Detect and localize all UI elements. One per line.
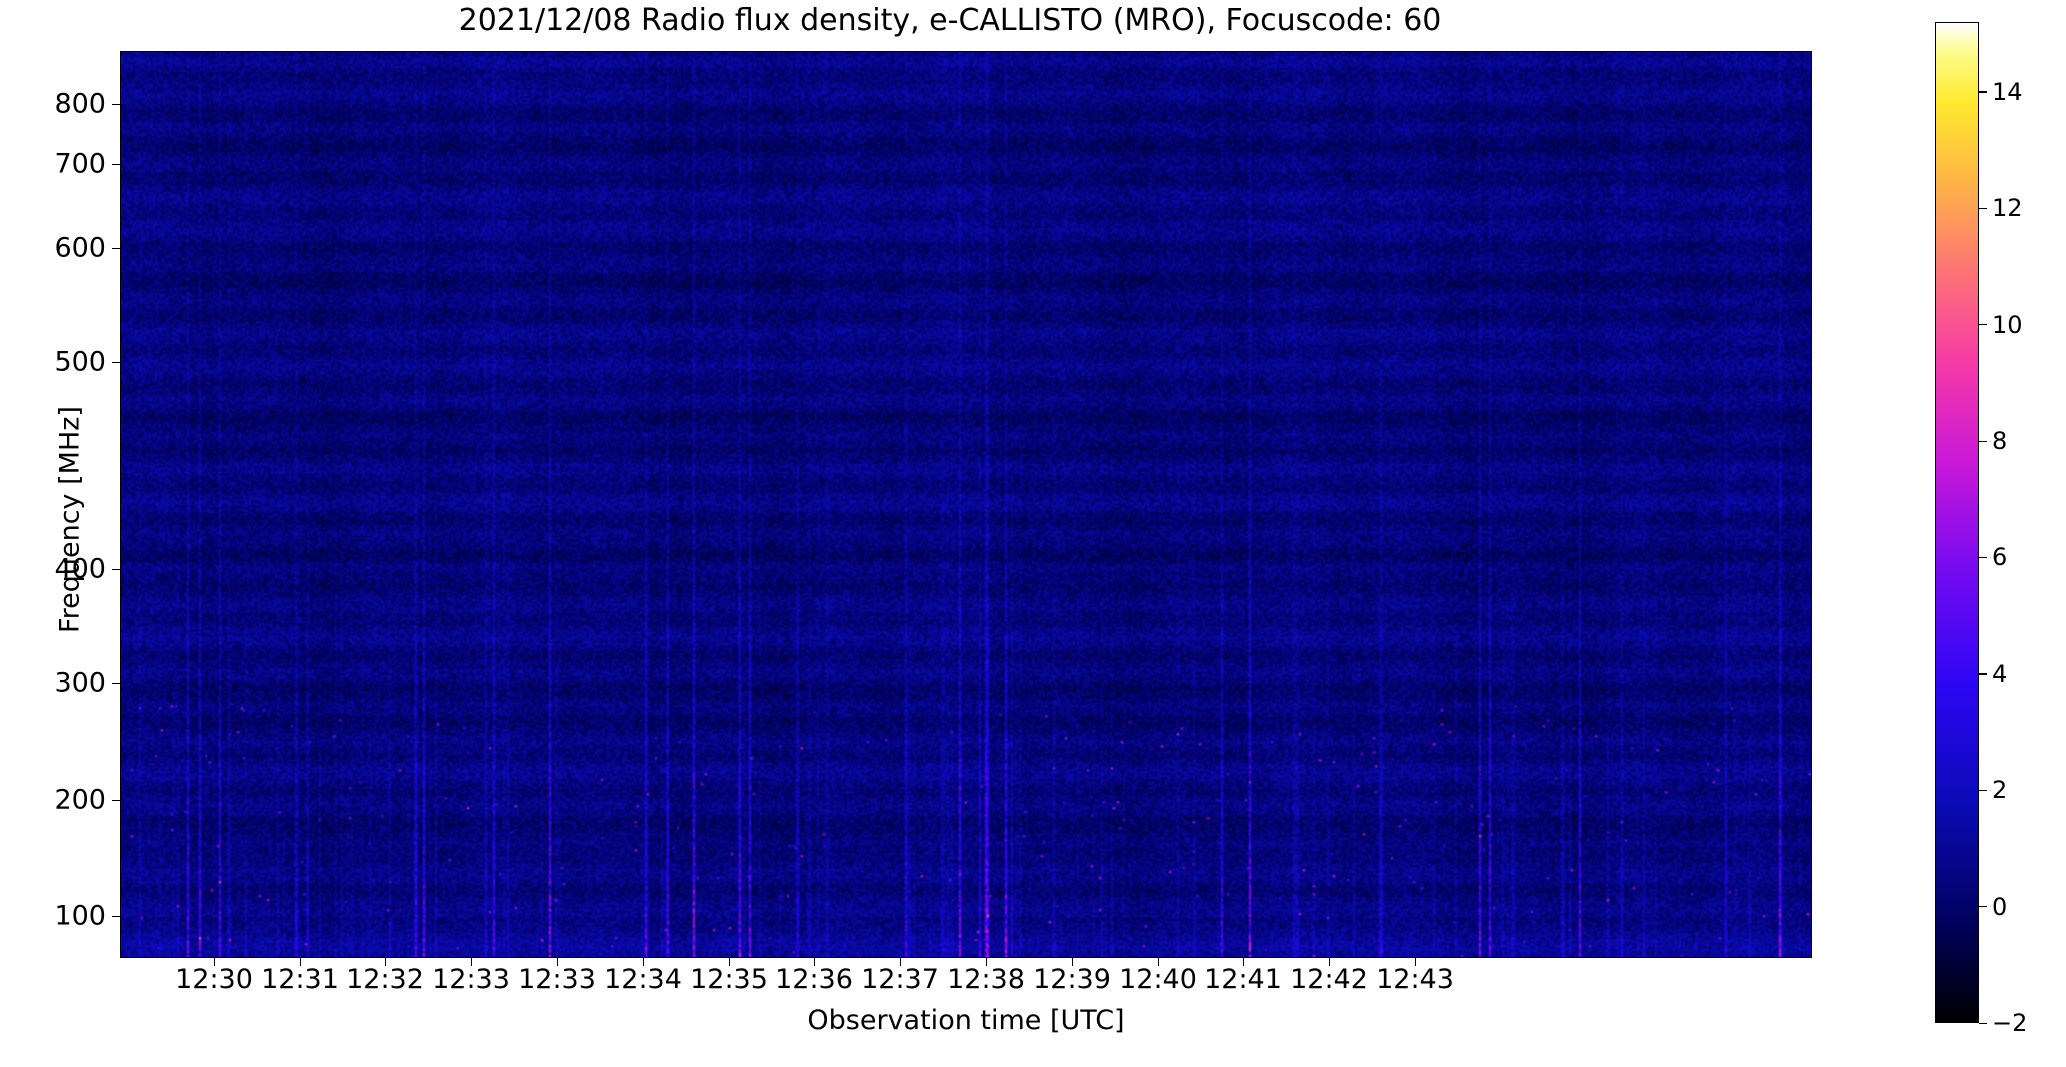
y-tick-mark — [112, 800, 120, 801]
y-tick-mark — [112, 362, 120, 363]
page-title: 2021/12/08 Radio flux density, e-CALLIST… — [0, 3, 1900, 38]
colorbar-tick-label: 6 — [1992, 543, 2007, 571]
x-tick-mark — [729, 958, 730, 966]
x-tick-label: 12:34 — [604, 964, 682, 995]
colorbar-tick-label: 2 — [1992, 776, 2007, 804]
x-tick-mark — [1158, 958, 1159, 966]
x-tick-mark — [1329, 958, 1330, 966]
y-tick-mark — [112, 164, 120, 165]
y-tick-mark — [112, 916, 120, 917]
y-tick-mark — [112, 248, 120, 249]
colorbar — [1935, 22, 1979, 1023]
x-tick-label: 12:42 — [1290, 964, 1368, 995]
y-tick-mark — [112, 683, 120, 684]
colorbar-tick-mark — [1979, 91, 1987, 92]
colorbar-tick-label: 10 — [1992, 311, 2023, 339]
y-tick-label: 500 — [16, 347, 106, 378]
colorbar-gradient — [1936, 23, 1978, 1022]
colorbar-tick-mark — [1979, 790, 1987, 791]
y-tick-mark — [112, 569, 120, 570]
colorbar-tick-label: 8 — [1992, 427, 2007, 455]
x-tick-mark — [385, 958, 386, 966]
colorbar-tick-mark — [1979, 1023, 1987, 1024]
x-tick-mark — [643, 958, 644, 966]
x-axis-label: Observation time [UTC] — [120, 1005, 1812, 1036]
colorbar-tick-label: 14 — [1992, 78, 2023, 106]
colorbar-tick-mark — [1979, 906, 1987, 907]
colorbar-tick-mark — [1979, 324, 1987, 325]
colorbar-tick-mark — [1979, 673, 1987, 674]
colorbar-tick-label: 12 — [1992, 194, 2023, 222]
x-tick-mark — [814, 958, 815, 966]
y-tick-label: 100 — [16, 901, 106, 932]
x-tick-mark — [1243, 958, 1244, 966]
y-tick-label: 200 — [16, 785, 106, 816]
y-tick-mark — [112, 104, 120, 105]
x-tick-mark — [900, 958, 901, 966]
x-tick-label: 12:43 — [1376, 964, 1454, 995]
y-tick-label: 600 — [16, 233, 106, 264]
x-tick-label: 12:31 — [261, 964, 339, 995]
y-tick-label: 800 — [16, 89, 106, 120]
x-tick-mark — [986, 958, 987, 966]
x-tick-label: 12:41 — [1204, 964, 1282, 995]
x-tick-mark — [1072, 958, 1073, 966]
x-tick-mark — [471, 958, 472, 966]
x-tick-label: 12:35 — [690, 964, 768, 995]
x-tick-mark — [300, 958, 301, 966]
x-tick-label: 12:32 — [346, 964, 424, 995]
colorbar-tick-mark — [1979, 208, 1987, 209]
x-tick-label: 12:38 — [947, 964, 1025, 995]
x-tick-mark — [557, 958, 558, 966]
colorbar-tick-label: 4 — [1992, 660, 2007, 688]
x-tick-label: 12:36 — [775, 964, 853, 995]
x-tick-label: 12:40 — [1119, 964, 1197, 995]
spectrogram-figure: 2021/12/08 Radio flux density, e-CALLIST… — [0, 0, 2066, 1067]
y-tick-label: 300 — [16, 668, 106, 699]
y-tick-label: 400 — [16, 554, 106, 585]
x-tick-label: 12:33 — [518, 964, 596, 995]
spectrogram-plot-area — [120, 51, 1812, 958]
x-tick-label: 12:33 — [432, 964, 510, 995]
colorbar-tick-mark — [1979, 441, 1987, 442]
x-tick-label: 12:30 — [175, 964, 253, 995]
y-tick-label: 700 — [16, 149, 106, 180]
colorbar-tick-label: −2 — [1992, 1009, 2027, 1037]
x-tick-label: 12:37 — [861, 964, 939, 995]
x-tick-mark — [1415, 958, 1416, 966]
colorbar-tick-label: 0 — [1992, 893, 2007, 921]
spectrogram-image — [121, 52, 1812, 958]
x-tick-mark — [214, 958, 215, 966]
x-tick-label: 12:39 — [1033, 964, 1111, 995]
colorbar-tick-mark — [1979, 557, 1987, 558]
